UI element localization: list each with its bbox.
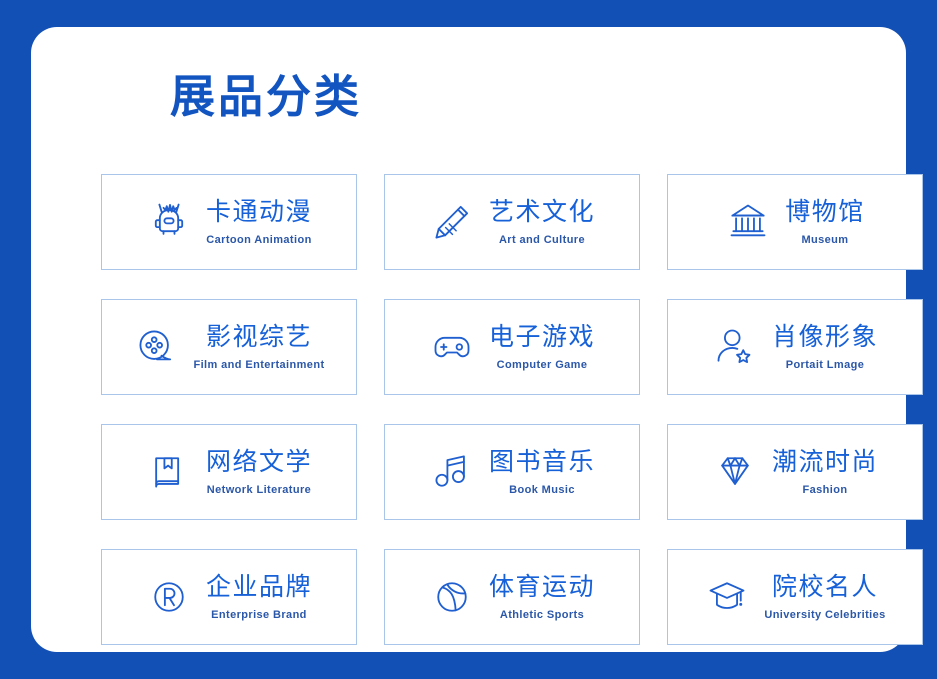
robot-icon [146,199,192,245]
category-labels: 卡通动漫Cartoon Animation [206,198,312,246]
category-card[interactable]: 影视综艺Film and Entertainment [101,299,357,395]
category-labels: 影视综艺Film and Entertainment [193,323,324,371]
film-reel-icon [133,324,179,370]
category-name-cn: 图书音乐 [489,448,595,477]
category-name-cn: 潮流时尚 [772,448,878,477]
category-name-cn: 体育运动 [489,573,595,602]
category-labels: 博物馆Museum [785,198,865,246]
category-labels: 电子游戏Computer Game [489,323,595,371]
category-card[interactable]: 电子游戏Computer Game [384,299,640,395]
category-name-en: Network Literature [207,484,311,496]
category-name-en: Art and Culture [499,234,585,246]
content-panel: 展品分类 卡通动漫Cartoon Animation艺术文化Art and Cu… [31,27,906,652]
registered-trademark-icon [146,574,192,620]
category-card[interactable]: 艺术文化Art and Culture [384,174,640,270]
category-card[interactable]: 网络文学Network Literature [101,424,357,520]
category-labels: 企业品牌Enterprise Brand [206,573,312,621]
category-name-en: Film and Entertainment [193,359,324,371]
category-name-cn: 博物馆 [785,198,865,227]
category-card[interactable]: 卡通动漫Cartoon Animation [101,174,357,270]
category-name-cn: 企业品牌 [206,573,312,602]
category-name-en: Cartoon Animation [206,234,311,246]
category-name-cn: 电子游戏 [489,323,595,352]
category-name-cn: 肖像形象 [772,323,878,352]
page-background: 展品分类 卡通动漫Cartoon Animation艺术文化Art and Cu… [0,0,937,679]
category-name-cn: 艺术文化 [489,198,595,227]
category-card[interactable]: 博物馆Museum [667,174,923,270]
category-card[interactable]: 院校名人University Celebrities [667,549,923,645]
category-card[interactable]: 图书音乐Book Music [384,424,640,520]
person-star-icon [712,324,758,370]
category-labels: 图书音乐Book Music [489,448,595,496]
category-card[interactable]: 肖像形象Portait Lmage [667,299,923,395]
sports-ball-icon [429,574,475,620]
gamepad-icon [429,324,475,370]
category-name-cn: 卡通动漫 [206,198,312,227]
category-name-en: Fashion [803,484,848,496]
category-name-en: Enterprise Brand [211,609,307,621]
page-title: 展品分类 [170,74,362,119]
category-labels: 体育运动Athletic Sports [489,573,595,621]
category-grid: 卡通动漫Cartoon Animation艺术文化Art and Culture… [101,174,923,645]
category-labels: 网络文学Network Literature [206,448,312,496]
graduation-cap-icon [704,574,750,620]
category-card[interactable]: 企业品牌Enterprise Brand [101,549,357,645]
pencil-icon [429,199,475,245]
category-name-en: Book Music [509,484,575,496]
category-name-en: Museum [801,234,848,246]
category-name-en: Portait Lmage [786,359,865,371]
museum-icon [725,199,771,245]
category-name-cn: 网络文学 [206,448,312,477]
category-name-cn: 院校名人 [772,573,878,602]
category-labels: 院校名人University Celebrities [764,573,885,621]
diamond-icon [712,449,758,495]
category-labels: 肖像形象Portait Lmage [772,323,878,371]
music-note-icon [429,449,475,495]
category-name-cn: 影视综艺 [206,323,312,352]
category-card[interactable]: 潮流时尚Fashion [667,424,923,520]
category-name-en: Computer Game [497,359,588,371]
book-bookmark-icon [146,449,192,495]
category-name-en: Athletic Sports [500,609,584,621]
category-labels: 潮流时尚Fashion [772,448,878,496]
category-labels: 艺术文化Art and Culture [489,198,595,246]
category-card[interactable]: 体育运动Athletic Sports [384,549,640,645]
category-name-en: University Celebrities [764,609,885,621]
